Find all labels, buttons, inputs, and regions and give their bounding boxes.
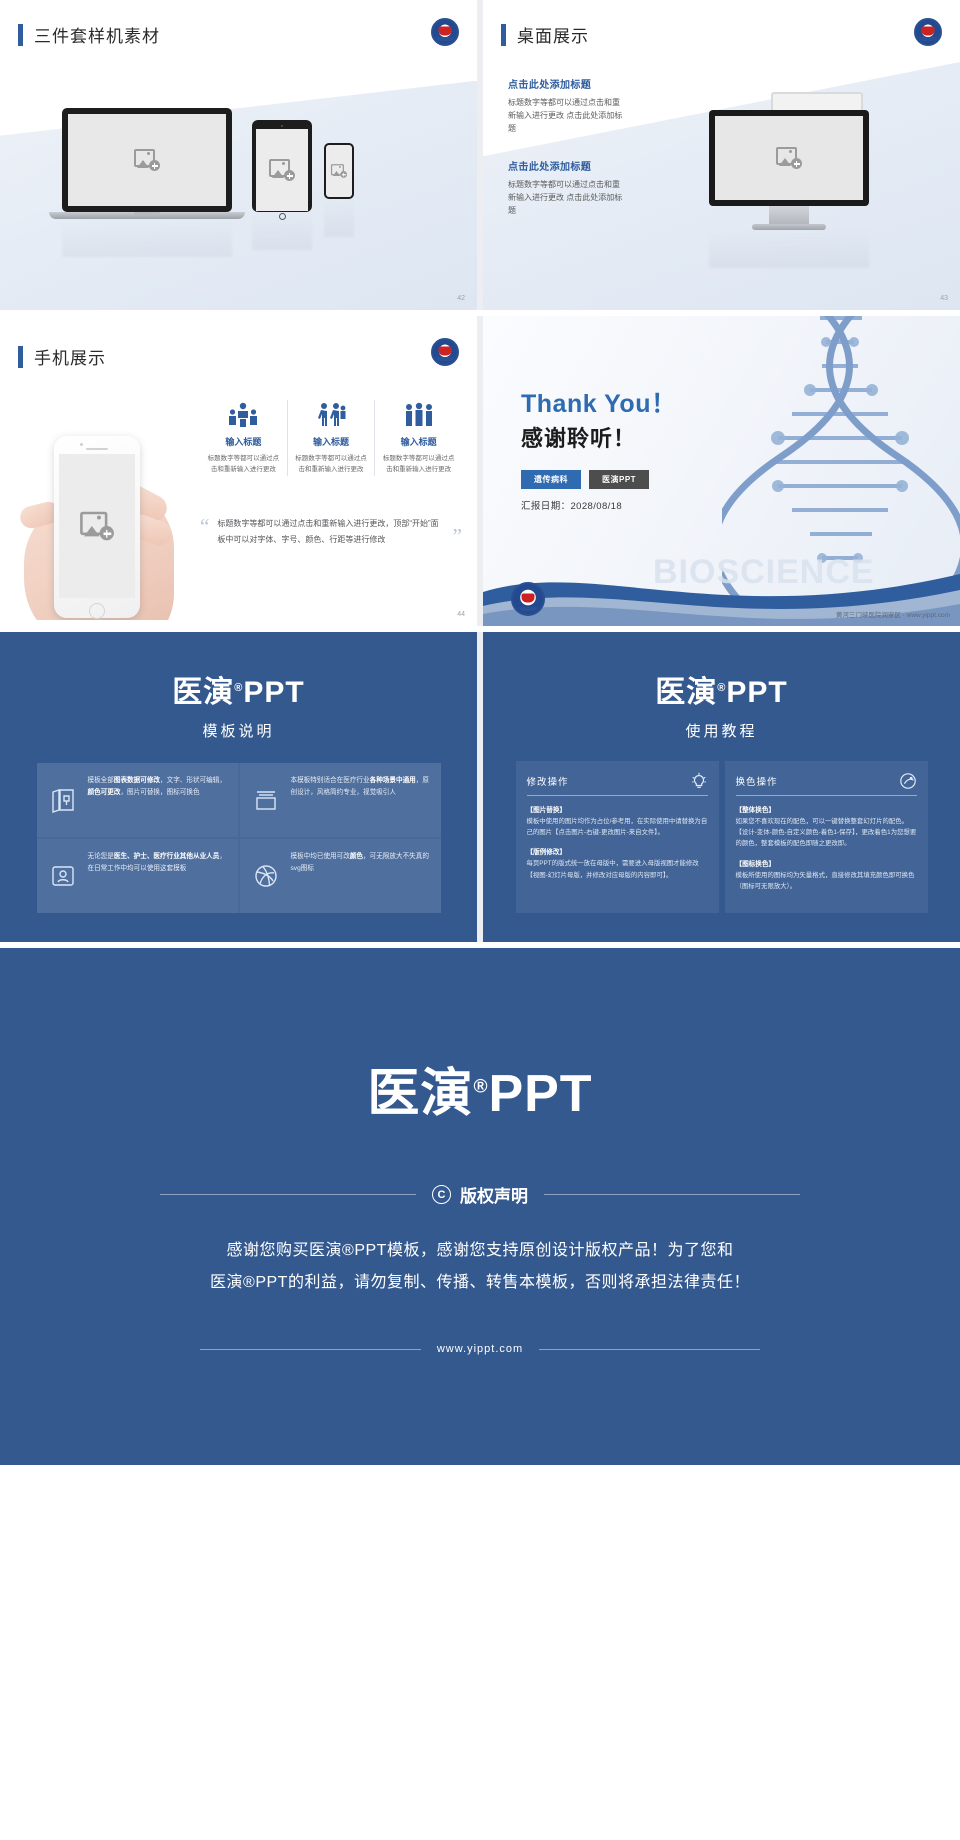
tag-group: 遗传病科 医演PPT [521,470,649,489]
feature-body: 标题数字等都可以通过点击和重新输入进行更改 [206,453,281,476]
thank-you-title-cn: 感谢聆听！ [521,421,676,453]
copyright-footer-row: www.yippt.com [200,1343,760,1355]
monitor-screen [709,110,869,206]
feature-columns: 输入标题 标题数字等都可以通过点击和重新输入进行更改 输入标题 标题数字等都可以… [200,400,462,476]
brand-suffix: PPT [488,1065,592,1123]
tutorial-card[interactable]: 修改操作 【图片替换】 模板中使用的图片均作为占位/参考用，在实际使用中请替换为… [516,761,719,913]
feature-card[interactable]: 本模板特别适合在医疗行业各种场景中通用，原创设计，风格简约专业，视觉吸引人 [240,763,441,837]
tutorial-block-title: 【图标换色】 [736,858,917,868]
quote-block: “ 标题数字等都可以通过点击和重新输入进行更改，顶部“开始”面板中可以对字体、字… [200,516,462,547]
feature-card-grid: 模板全部图表数据可修改，文字、形状可编辑，颜色可更改，图片可替换，图标可换色 本… [37,763,441,913]
phone-body [324,143,354,199]
brand-name: 医演 [172,676,234,709]
report-date: 汇报日期：2028/08/18 [521,498,622,512]
slide-row-1: 三件套样机素材 [0,0,960,310]
laptop-mockup [62,108,232,219]
slide-title-desktop: 桌面展示 [501,22,589,47]
divider-right [539,1349,760,1350]
block-heading: 点击此处添加标题 [508,158,624,173]
image-placeholder-icon [134,149,160,171]
quote-close-icon: ” [453,526,462,547]
image-placeholder-icon [776,147,802,169]
block-body: 标题数字等都可以通过点击和重新输入进行更改 点击此处添加标题 [508,96,624,136]
page-number: 42 [457,295,465,302]
feature-card[interactable]: 模板全部图表数据可修改，文字、形状可编辑，颜色可更改，图片可替换，图标可换色 [37,763,238,837]
copyright-heading: C 版权声明 [432,1182,528,1207]
image-placeholder-icon [331,164,347,178]
panel-template-info[interactable]: 医演®PPT 模板说明 模板全部图表数据可修改，文字、形状可编辑，颜色可更改，图… [0,632,477,942]
tablet-body [252,120,312,212]
feature-card[interactable]: 无论您是医生、护士、医疗行业其他从业人员，在日常工作中均可以使用这套模板 [37,839,238,913]
copyright-symbol-icon: C [432,1185,451,1204]
tutorial-block-title: 【图片替换】 [527,804,708,814]
title-accent-bar [18,346,23,368]
panel-subtitle: 模板说明 [0,720,477,741]
copyright-heading-text: 版权声明 [460,1182,528,1207]
title-accent-bar [18,24,23,46]
slide-title-mobile: 手机展示 [18,344,106,369]
brand-logo-text: 医演®PPT [0,678,477,708]
feature-card-text: 模板中均已使用可改颜色，可无限放大不失真的svg图标 [291,851,430,901]
quote-open-icon: “ [200,516,209,547]
page-number: 44 [457,611,465,618]
slide-title-text: 桌面展示 [517,22,589,47]
brand-block: 医演®PPT 使用教程 [483,632,960,741]
feature-card[interactable]: 模板中均已使用可改颜色，可无限放大不失真的svg图标 [240,839,441,913]
thank-you-title: Thank You！ 感谢聆听！ [521,390,676,453]
school-emblem-icon [431,338,459,366]
tutorial-block: 【图标换色】 模板所使用的图标均为矢量格式，直接修改其填充颜色即可换色（图标可无… [736,858,917,892]
divider-right [544,1194,800,1195]
copyright-brand-logo: 医演®PPT [0,1068,960,1120]
tutorial-block-body: 模板中使用的图片均作为占位/参考用，在实际使用中请替换为自己的图片【点击图片-右… [527,816,708,838]
website-url[interactable]: www.yippt.com [437,1343,523,1355]
title-accent-bar [501,24,506,46]
laptop-screen [62,108,232,212]
three-people-icon [381,400,456,428]
phone-screen-content [326,145,352,197]
phone-in-hand-mockup [54,436,140,618]
tutorial-block: 【整体换色】 如果您不喜欢现在的配色，可以一键替换整套幻灯片的配色。【设计-变体… [736,804,917,850]
tutorial-block-body: 如果您不喜欢现在的配色，可以一键替换整套幻灯片的配色。【设计-变体-颜色-自定义… [736,816,917,850]
slide-row-2: 手机展示 [0,316,960,626]
thank-you-title-en: Thank You！ [521,390,676,419]
brand-logo-text: 医演®PPT [483,678,960,708]
slide-title-devices: 三件套样机素材 [18,22,160,47]
slide-desktop[interactable]: 桌面展示 点击此处添加标题 标题数字等都可以通过点击和重新输入进行更改 点击此处… [483,0,960,310]
quote-text: 标题数字等都可以通过点击和重新输入进行更改，顶部“开始”面板中可以对字体、字号、… [217,516,444,547]
feature-heading: 输入标题 [206,435,281,448]
brand-name: 医演 [655,676,717,709]
slide-thank-you[interactable]: BIOSCIENCE Thank You！ 感谢聆听！ 遗传病科 医演PPT 汇… [483,316,960,626]
primary-monitor-mockup [709,110,869,230]
user-card-icon [48,851,78,901]
tag-department[interactable]: 遗传病科 [521,470,581,489]
block-body: 标题数字等都可以通过点击和重新输入进行更改 点击此处添加标题 [508,178,624,218]
slide-title-text: 三件套样机素材 [34,22,160,47]
tutorial-block-body: 模板所使用的图标均为矢量格式，直接修改其填充颜色即可换色（图标可无限放大）。 [736,870,917,892]
tutorial-card-grid: 修改操作 【图片替换】 模板中使用的图片均作为占位/参考用，在实际使用中请替换为… [516,761,928,913]
team-check-icon [206,400,281,428]
copyright-line-2: 医演®PPT的利益，请勿复制、传播、转售本模板，否则将承担法律责任！ [170,1267,790,1299]
brand-registered-mark: ® [234,682,243,694]
feature-card-text: 模板全部图表数据可修改，文字、形状可编辑，颜色可更改，图片可替换，图标可换色 [88,775,227,825]
divider-left [160,1194,416,1195]
feature-column[interactable]: 输入标题 标题数字等都可以通过点击和重新输入进行更改 [200,400,287,476]
layers-icon [48,775,78,825]
monitor-screen-content [715,116,863,200]
phone-mockup [324,143,354,199]
tutorial-card-heading: 修改操作 [527,774,569,788]
school-emblem-icon [511,582,545,616]
slide-mobile[interactable]: 手机展示 [0,316,477,626]
copyright-line-1: 感谢您购买医演®PPT模板，感谢您支持原创设计版权产品！为了您和 [170,1235,790,1267]
feature-column[interactable]: 输入标题 标题数字等都可以通过点击和重新输入进行更改 [374,400,462,476]
feature-body: 标题数字等都可以通过点击和重新输入进行更改 [381,453,456,476]
brand-block: 医演®PPT 模板说明 [0,632,477,741]
dribbble-icon [251,851,281,901]
copyright-body: 感谢您购买医演®PPT模板，感谢您支持原创设计版权产品！为了您和 医演®PPT的… [170,1235,790,1299]
copyright-panel: 医演®PPT C 版权声明 感谢您购买医演®PPT模板，感谢您支持原创设计版权产… [0,948,960,1465]
ppt-preview-page: 三件套样机素材 [0,0,960,1465]
feature-card-text: 本模板特别适合在医疗行业各种场景中通用，原创设计，风格简约专业，视觉吸引人 [291,775,430,825]
info-panel-row: 医演®PPT 模板说明 模板全部图表数据可修改，文字、形状可编辑，颜色可更改，图… [0,632,960,942]
image-placeholder-icon [80,512,114,541]
slide-devices[interactable]: 三件套样机素材 [0,0,477,310]
people-group-icon [294,400,369,428]
palette-icon [899,772,917,790]
feature-card-text: 无论您是医生、护士、医疗行业其他从业人员，在日常工作中均可以使用这套模板 [88,851,227,901]
school-emblem-icon [914,18,942,46]
school-emblem-icon [431,18,459,46]
lightbulb-icon [690,772,708,790]
panel-subtitle: 使用教程 [483,720,960,741]
feature-column[interactable]: 输入标题 标题数字等都可以通过点击和重新输入进行更改 [287,400,375,476]
brand-suffix: PPT [243,676,304,709]
tutorial-block: 【图片替换】 模板中使用的图片均作为占位/参考用，在实际使用中请替换为自己的图片… [527,804,708,838]
panel-tutorial[interactable]: 医演®PPT 使用教程 修改操作 【图片替换】 模板中使用的图片均作 [483,632,960,942]
tablet-mockup [252,120,312,212]
block-heading: 点击此处添加标题 [508,76,624,91]
tutorial-card-header: 修改操作 [527,772,708,796]
feature-heading: 输入标题 [381,435,456,448]
feature-body: 标题数字等都可以通过点击和重新输入进行更改 [294,453,369,476]
brand-suffix: PPT [726,676,787,709]
slide-footer-text: 黄河三门峡医院润家区 · www.yippt.com [836,609,950,619]
brand-registered-mark: ® [717,682,726,694]
page-number: 43 [940,295,948,302]
copyright-heading-row: C 版权声明 [160,1182,800,1207]
stack-icon [251,775,281,825]
divider-left [200,1349,421,1350]
feature-heading: 输入标题 [294,435,369,448]
phone-screen-content [59,454,135,598]
tutorial-card[interactable]: 换色操作 【整体换色】 如果您不喜欢现在的配色，可以一键替换整套幻灯片的配色。【… [725,761,928,913]
laptop-screen-content [68,114,226,206]
tutorial-card-heading: 换色操作 [736,774,778,788]
tutorial-block-title: 【整体换色】 [736,804,917,814]
brand-name: 医演 [367,1065,473,1123]
tutorial-card-header: 换色操作 [736,772,917,796]
brand-registered-mark: ® [473,1077,488,1098]
laptop-base [49,212,245,219]
image-placeholder-icon [269,159,295,181]
tablet-screen-content [256,129,308,211]
tag-brand[interactable]: 医演PPT [589,470,649,489]
tutorial-block: 【版例修改】 每页PPT的版式统一放在母版中，需要进入母版视图才能修改【视图-幻… [527,846,708,880]
tutorial-block-body: 每页PPT的版式统一放在母版中，需要进入母版视图才能修改【视图-幻灯片母版，并修… [527,858,708,880]
tutorial-block-title: 【版例修改】 [527,846,708,856]
desktop-text-block-1: 点击此处添加标题 标题数字等都可以通过点击和重新输入进行更改 点击此处添加标题 [508,76,624,136]
slide-title-text: 手机展示 [34,344,106,369]
desktop-text-block-2: 点击此处添加标题 标题数字等都可以通过点击和重新输入进行更改 点击此处添加标题 [508,158,624,218]
hand-photo [18,370,188,620]
